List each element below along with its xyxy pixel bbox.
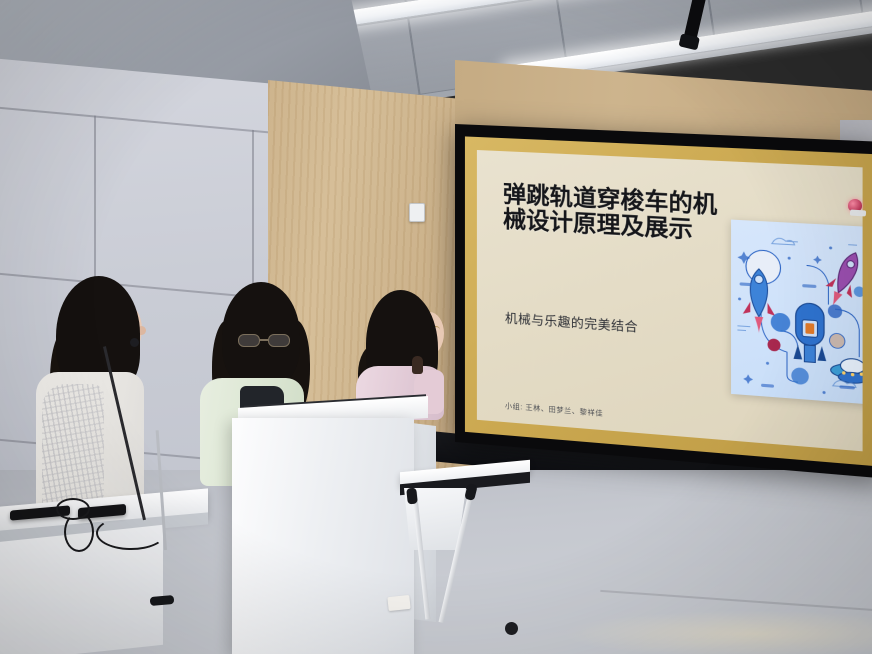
microphone-head bbox=[130, 338, 139, 347]
glasses-icon bbox=[238, 334, 294, 347]
desk-cable bbox=[96, 516, 166, 550]
light-switch[interactable] bbox=[409, 203, 425, 222]
floor-light-reflection bbox=[560, 610, 872, 654]
projection-screen[interactable]: 弹跳轨道穿梭车的机械设计原理及展示 机械与乐趣的完美结合 小组: 王林、田梦兰、… bbox=[455, 124, 872, 479]
presentation-slide: 弹跳轨道穿梭车的机械设计原理及展示 机械与乐趣的完美结合 小组: 王林、田梦兰、… bbox=[477, 150, 863, 451]
table-leg-cap bbox=[406, 488, 418, 505]
slide-authors: 小组: 王林、田梦兰、黎祥佳 bbox=[505, 401, 603, 419]
podium bbox=[232, 418, 414, 654]
handheld-microphone[interactable] bbox=[412, 356, 423, 374]
desk-cable bbox=[64, 512, 94, 552]
classroom-photo-scene: 弹跳轨道穿梭车的机械设计原理及展示 机械与乐趣的完美结合 小组: 王林、田梦兰、… bbox=[0, 0, 872, 654]
space-illustration bbox=[731, 220, 863, 406]
slide-title: 弹跳轨道穿梭车的机械设计原理及展示 bbox=[503, 181, 726, 243]
table-caster-wheel bbox=[505, 622, 518, 635]
screen-inner-border: 弹跳轨道穿梭车的机械设计原理及展示 机械与乐趣的完美结合 小组: 王林、田梦兰、… bbox=[465, 136, 872, 466]
floor-paper bbox=[387, 595, 410, 611]
slide-date: 20250604 bbox=[505, 425, 541, 435]
red-indicator-light bbox=[848, 199, 862, 212]
slide-subtitle: 机械与乐趣的完美结合 bbox=[505, 307, 723, 341]
